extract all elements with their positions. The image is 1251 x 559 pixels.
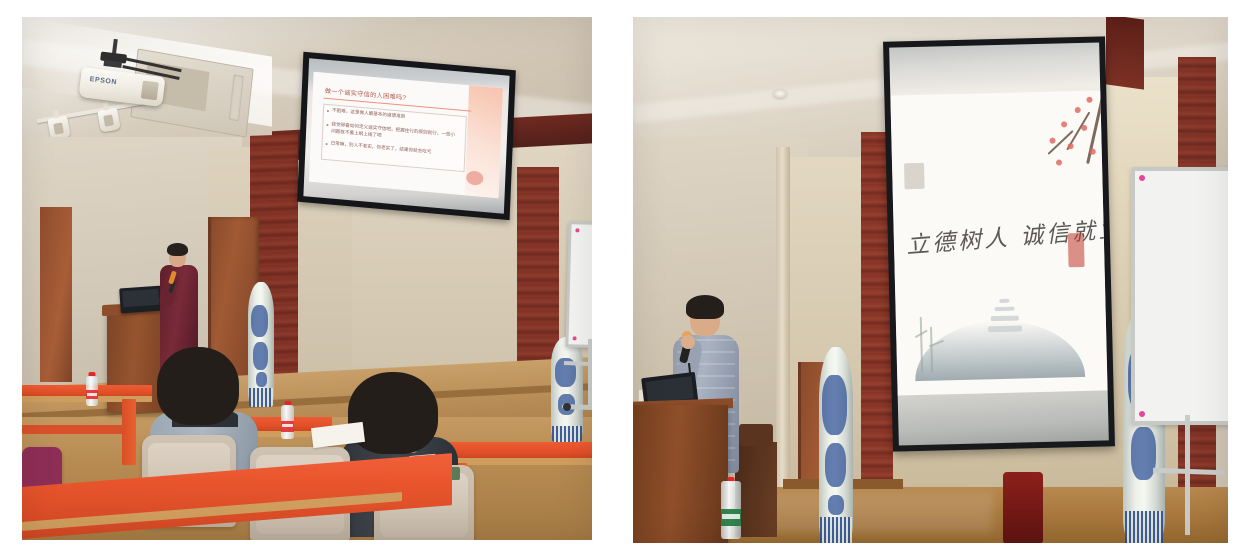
whiteboard-stand: [588, 339, 592, 407]
plum-blossom-motif-icon: [1014, 90, 1103, 212]
water-bottle: [721, 477, 741, 539]
water-bottle: [281, 401, 294, 439]
photo-right-lecture-hall: 立德树人 诚信就业: [633, 17, 1228, 543]
projection-screen-frame: 立德树人 诚信就业: [883, 36, 1115, 451]
pagoda-motif-icon: [987, 298, 1022, 335]
magnet-icon: [573, 336, 577, 340]
track-spotlight-icon: [97, 107, 121, 132]
projection-screen-surface: 立德树人 诚信就业: [889, 42, 1109, 445]
magnet-icon: [575, 228, 579, 232]
whiteboard[interactable]: [565, 221, 592, 349]
desk-shelf: [22, 425, 126, 434]
presentation-slide-right: 立德树人 诚信就业: [890, 90, 1107, 395]
attendee-head: [157, 347, 239, 425]
presenter-hand: [681, 335, 695, 349]
presenter-hair: [167, 243, 188, 256]
slide-title-calligraphy: 立德树人 诚信就业: [905, 212, 1093, 260]
corner-seal-motif-icon: [904, 163, 925, 189]
red-draped-cloth: [1003, 472, 1043, 543]
whiteboard-stand: [1185, 415, 1190, 535]
water-bottle: [86, 372, 98, 406]
photo-left-lecture-hall: EPSON 做一个诚实守信的人困难吗? 不困难，这是做人最基本的道德: [22, 17, 592, 540]
bamboo-motif-icon: [912, 316, 953, 377]
wood-trim-upper: [1106, 17, 1144, 90]
screenshot-canvas: EPSON 做一个诚实守信的人困难吗? 不困难，这是做人最基本的道德: [0, 0, 1251, 559]
presentation-slide-left: 做一个诚实守信的人困难吗? 不困难，这是做人最基本的道德准则 我觉得看如何定义诚…: [309, 72, 503, 198]
magnet-icon: [1139, 175, 1145, 181]
projection-screen-frame: 做一个诚实守信的人困难吗? 不困难，这是做人最基本的道德准则 我觉得看如何定义诚…: [297, 52, 516, 220]
podium: [633, 405, 728, 543]
wooden-chair: [735, 442, 777, 537]
porcelain-vase: [551, 337, 583, 442]
recessed-downlight-icon: [773, 89, 787, 98]
whiteboard[interactable]: [1131, 167, 1228, 425]
caster-wheel-icon: [563, 403, 571, 411]
projection-screen-surface: 做一个诚实守信的人困难吗? 不困难，这是做人最基本的道德准则 我觉得看如何定义诚…: [303, 58, 509, 213]
magnet-icon: [1139, 411, 1145, 417]
podium-monitor: [119, 286, 163, 314]
door-left[interactable]: [40, 207, 72, 382]
porcelain-vase: [819, 347, 853, 543]
projector-brand-label: EPSON: [89, 76, 117, 86]
presenter-hair: [686, 295, 724, 319]
porcelain-vase: [248, 282, 274, 407]
red-seal-stamp-icon: [1068, 233, 1085, 267]
floor-reflection: [753, 493, 993, 533]
